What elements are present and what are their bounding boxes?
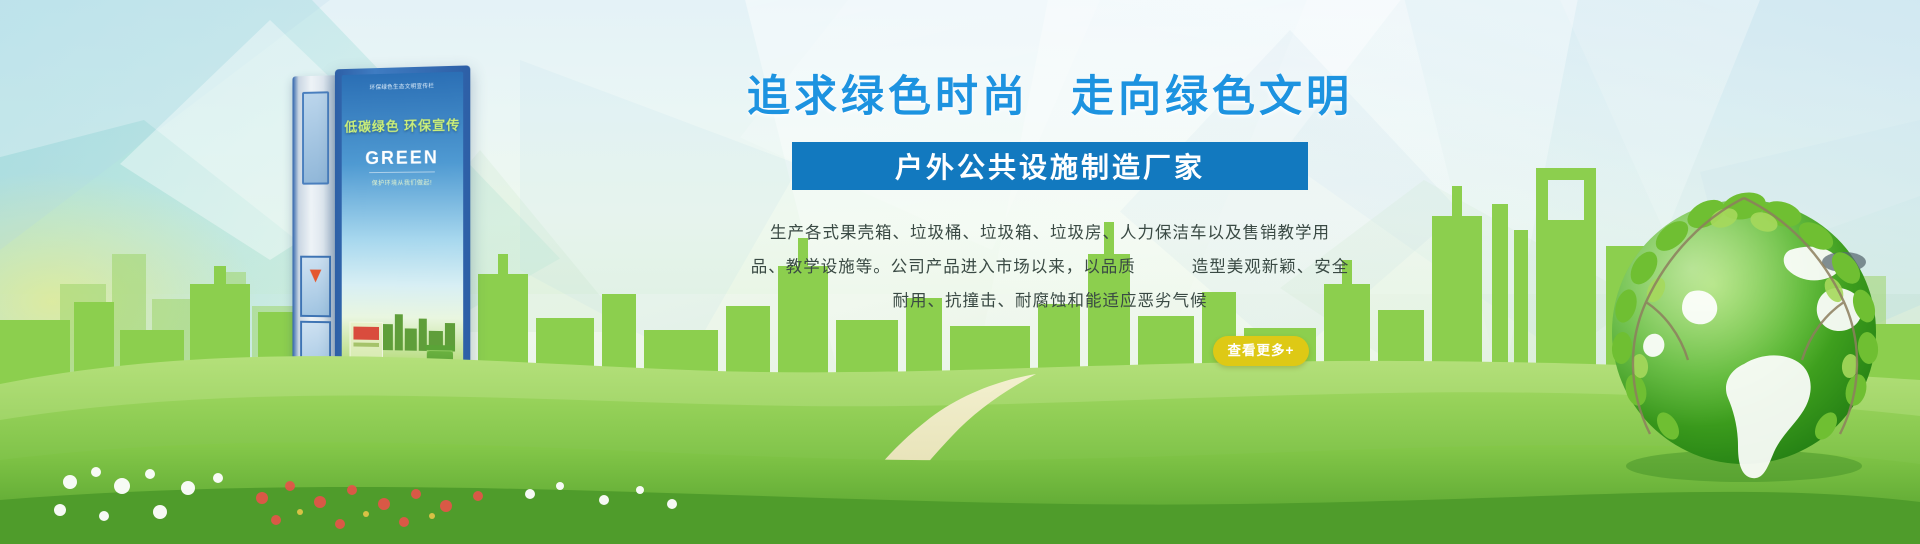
headline: 追求绿色时尚走向绿色文明 xyxy=(640,62,1460,124)
view-more-button[interactable]: 查看更多+ xyxy=(1213,336,1309,366)
kiosk-headline-cn: 低碳绿色 环保宣传 xyxy=(342,114,463,135)
kiosk-logo-text: 环保绿色生态文明宣传栏 xyxy=(342,82,463,93)
banner-copy: 追求绿色时尚走向绿色文明 户外公共设施制造厂家 生产各式果壳箱、垃圾桶、垃圾箱、… xyxy=(640,62,1460,366)
kiosk-arrow-icon xyxy=(310,270,322,283)
body-line-2a: 品、教学设施等。公司产品进入市场以来，以品质 xyxy=(751,258,1136,276)
headline-part-1: 追求绿色时尚 xyxy=(747,73,1029,121)
body-line-1: 生产各式果壳箱、垃圾桶、垃圾箱、垃圾房、人力保洁车以及售销教学用 xyxy=(640,216,1460,250)
body-paragraph: 生产各式果壳箱、垃圾桶、垃圾箱、垃圾房、人力保洁车以及售销教学用 品、教学设施等… xyxy=(640,216,1460,318)
subtitle-bar: 户外公共设施制造厂家 xyxy=(792,142,1308,190)
kiosk-side-panel-upper xyxy=(300,256,331,318)
green-earth-globe xyxy=(1594,184,1894,484)
kiosk-headline-en: GREEN xyxy=(342,147,463,170)
kiosk-divider xyxy=(369,171,435,173)
body-line-2: 品、教学设施等。公司产品进入市场以来，以品质造型美观新颖、安全 xyxy=(640,250,1460,284)
kiosk-tagline: 保护环境从我们做起! xyxy=(342,177,463,187)
kiosk-side-window xyxy=(302,91,329,184)
headline-part-2: 走向绿色文明 xyxy=(1071,73,1353,121)
body-line-3: 耐用、抗撞击、耐腐蚀和能适应恶劣气候 xyxy=(640,284,1460,318)
body-line-2b: 造型美观新颖、安全 xyxy=(1192,258,1350,276)
hero-banner: 环保绿色生态文明宣传栏 低碳绿色 环保宣传 GREEN 保护环境从我们做起! xyxy=(0,0,1920,544)
subtitle-text: 户外公共设施制造厂家 xyxy=(895,146,1205,186)
